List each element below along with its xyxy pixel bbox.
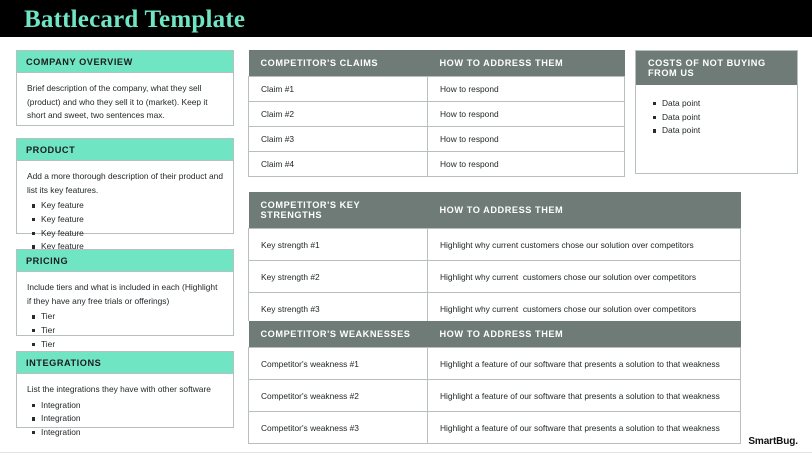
cell-response: How to respond [428, 102, 625, 127]
list-item: Data point [662, 124, 787, 138]
card-pricing-heading: PRICING [17, 250, 233, 272]
card-integrations: INTEGRATIONS List the integrations they … [16, 351, 234, 428]
table-row: Key strength #2 Highlight why current cu… [249, 261, 741, 293]
card-company-overview-body: Brief description of the company, what t… [17, 73, 233, 132]
list-item: Tier [41, 310, 223, 324]
card-costs-of-not-buying: COSTS OF NOT BUYING FROM US Data point D… [635, 50, 798, 174]
table-header-row: COMPETITOR'S WEAKNESSES HOW TO ADDRESS T… [249, 321, 741, 348]
list-item: Integration [41, 399, 223, 413]
table-competitors-claims: COMPETITOR'S CLAIMS HOW TO ADDRESS THEM … [248, 50, 625, 177]
cell-response: Highlight why current customers chose ou… [428, 229, 741, 261]
cell-strength: Key strength #3 [249, 293, 428, 325]
card-integrations-body: List the integrations they have with oth… [17, 374, 233, 448]
cell-strength: Key strength #1 [249, 229, 428, 261]
cell-response: Highlight a feature of our software that… [428, 348, 741, 380]
cell-response: How to respond [428, 77, 625, 102]
table-row: Claim #1 How to respond [249, 77, 625, 102]
table-row: Competitor's weakness #2 Highlight a fea… [249, 380, 741, 412]
table-competitors-weaknesses: COMPETITOR'S WEAKNESSES HOW TO ADDRESS T… [248, 321, 741, 444]
pricing-text: Include tiers and what is included in ea… [27, 281, 223, 308]
table-header-row: COMPETITOR'S KEY STRENGTHS HOW TO ADDRES… [249, 192, 741, 229]
list-item: Data point [662, 97, 787, 111]
product-text: Add a more thorough description of their… [27, 170, 223, 197]
footer-divider [0, 452, 812, 453]
list-item: Data point [662, 111, 787, 125]
column-header-address: HOW TO ADDRESS THEM [428, 192, 741, 229]
column-header-address: HOW TO ADDRESS THEM [428, 321, 741, 348]
table-row: Competitor's weakness #1 Highlight a fea… [249, 348, 741, 380]
integrations-text: List the integrations they have with oth… [27, 383, 223, 397]
cell-response: Highlight why current customers chose ou… [428, 261, 741, 293]
cell-weakness: Competitor's weakness #1 [249, 348, 428, 380]
card-integrations-heading: INTEGRATIONS [17, 352, 233, 374]
cell-response: How to respond [428, 152, 625, 177]
cell-claim: Claim #4 [249, 152, 428, 177]
card-company-overview: COMPANY OVERVIEW Brief description of th… [16, 50, 234, 126]
cell-claim: Claim #1 [249, 77, 428, 102]
list-item: Key feature [41, 199, 223, 213]
product-bullet-list: Key feature Key feature Key feature Key … [27, 199, 223, 254]
column-header-strengths: COMPETITOR'S KEY STRENGTHS [249, 192, 428, 229]
column-header-address: HOW TO ADDRESS THEM [428, 50, 625, 77]
card-product-body: Add a more thorough description of their… [17, 161, 233, 262]
table-row: Claim #2 How to respond [249, 102, 625, 127]
card-costs-body: Data point Data point Data point [636, 85, 797, 146]
table-row: Key strength #1 Highlight why current cu… [249, 229, 741, 261]
table-row: Competitor's weakness #3 Highlight a fea… [249, 412, 741, 444]
cell-response: How to respond [428, 127, 625, 152]
smartbug-logo: SmartBug. [748, 436, 798, 447]
cell-claim: Claim #2 [249, 102, 428, 127]
table-competitors-key-strengths: COMPETITOR'S KEY STRENGTHS HOW TO ADDRES… [248, 192, 741, 325]
list-item: Integration [41, 426, 223, 440]
cell-response: Highlight why current customers chose ou… [428, 293, 741, 325]
cell-response: Highlight a feature of our software that… [428, 412, 741, 444]
table-header-row: COMPETITOR'S CLAIMS HOW TO ADDRESS THEM [249, 50, 625, 77]
list-item: Integration [41, 412, 223, 426]
list-item: Tier [41, 324, 223, 338]
costs-bullet-list: Data point Data point Data point [648, 97, 787, 138]
company-overview-text: Brief description of the company, what t… [27, 82, 223, 123]
table-row: Claim #3 How to respond [249, 127, 625, 152]
column-header-claims: COMPETITOR'S CLAIMS [249, 50, 428, 77]
card-product: PRODUCT Add a more thorough description … [16, 138, 234, 234]
pricing-bullet-list: Tier Tier Tier [27, 310, 223, 351]
card-pricing: PRICING Include tiers and what is includ… [16, 249, 234, 336]
table-row: Key strength #3 Highlight why current cu… [249, 293, 741, 325]
cell-weakness: Competitor's weakness #3 [249, 412, 428, 444]
integrations-bullet-list: Integration Integration Integration [27, 399, 223, 440]
card-product-heading: PRODUCT [17, 139, 233, 161]
cell-claim: Claim #3 [249, 127, 428, 152]
card-pricing-body: Include tiers and what is included in ea… [17, 272, 233, 359]
cell-response: Highlight a feature of our software that… [428, 380, 741, 412]
cell-weakness: Competitor's weakness #2 [249, 380, 428, 412]
column-header-weaknesses: COMPETITOR'S WEAKNESSES [249, 321, 428, 348]
list-item: Tier [41, 338, 223, 352]
cell-strength: Key strength #2 [249, 261, 428, 293]
list-item: Key feature [41, 227, 223, 241]
page-title: Battlecard Template [24, 6, 245, 34]
card-company-overview-heading: COMPANY OVERVIEW [17, 51, 233, 73]
table-row: Claim #4 How to respond [249, 152, 625, 177]
card-costs-heading: COSTS OF NOT BUYING FROM US [636, 51, 797, 85]
list-item: Key feature [41, 213, 223, 227]
